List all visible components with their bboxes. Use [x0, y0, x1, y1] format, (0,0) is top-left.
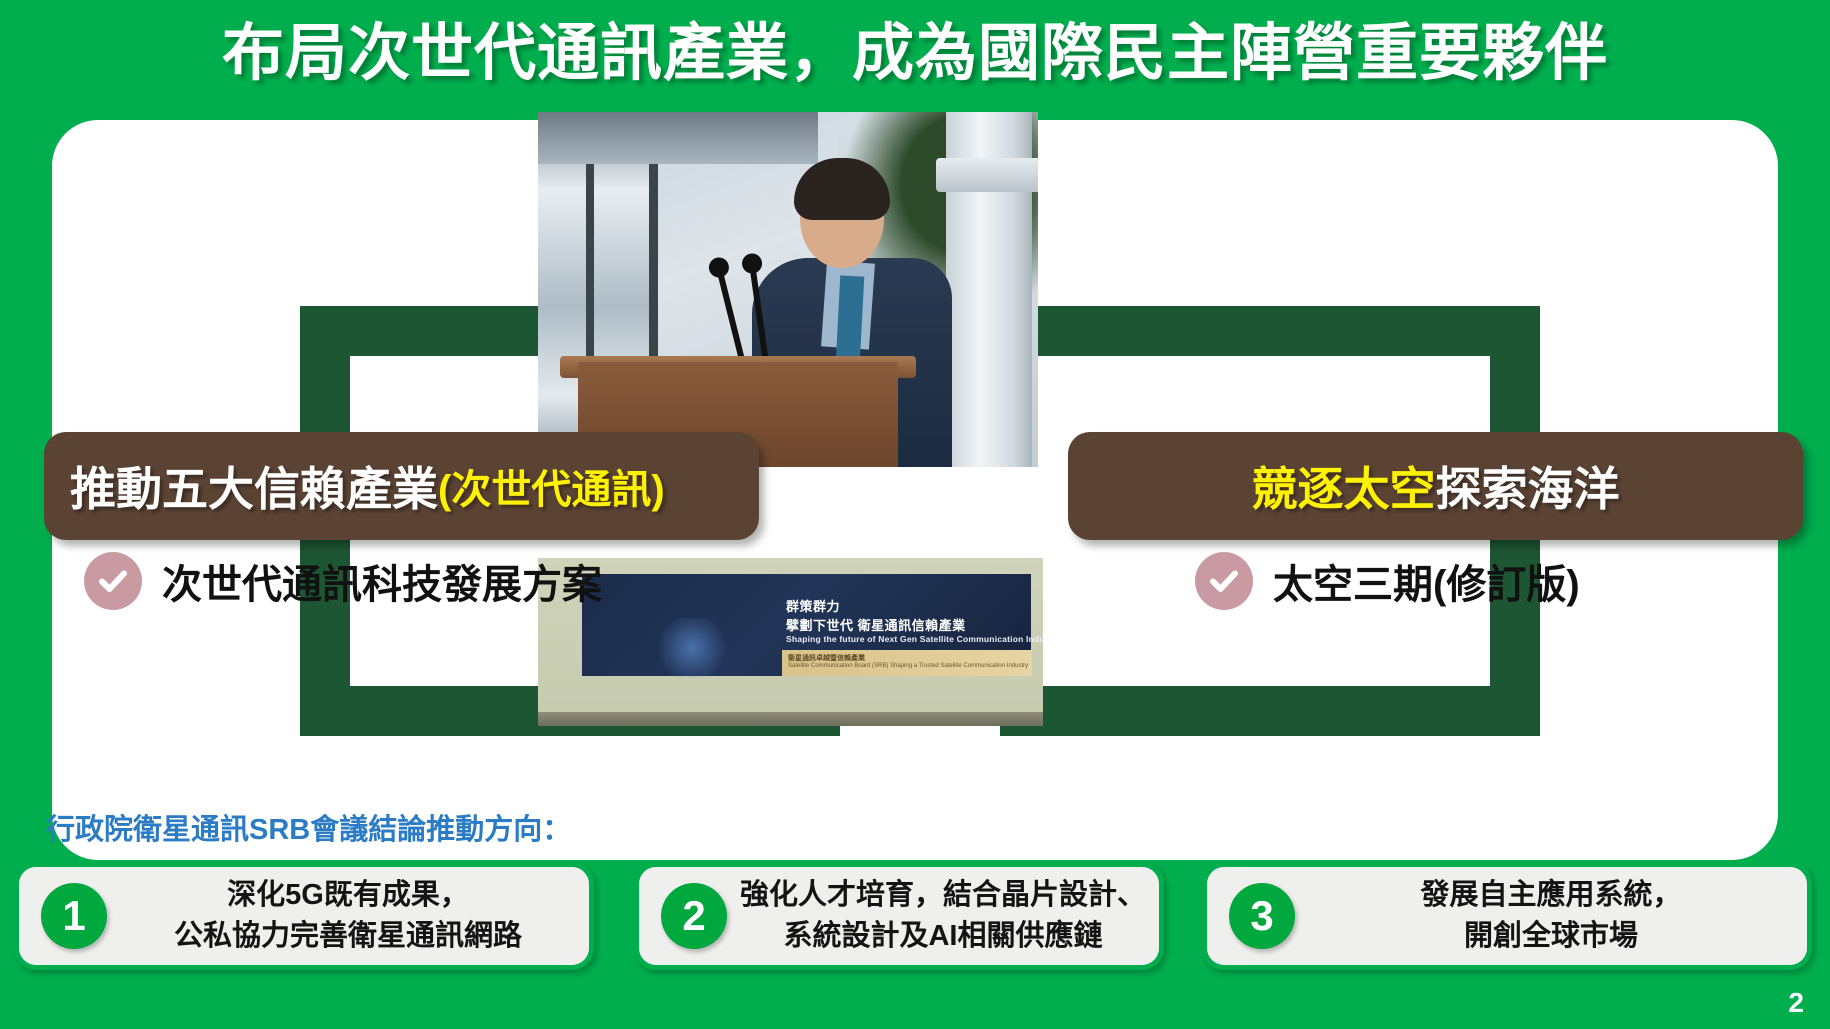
- action-box-text: 強化人才培育，結合晶片設計、 系統設計及AI相關供應鏈: [727, 875, 1159, 957]
- check-icon: [1195, 552, 1253, 610]
- photo-group-band-line2: Satellite Communication Board (SRB) Shap…: [788, 663, 1028, 669]
- photo-speaker-ceiling: [538, 112, 818, 164]
- photo-group-banner-line3: Shaping the future of Next Gen Satellite…: [786, 634, 1043, 644]
- photo-speaker-column: [946, 112, 1032, 467]
- action-box-text: 發展自主應用系統， 開創全球市場: [1295, 875, 1807, 957]
- photo-group-backdrop-glow: [652, 618, 732, 678]
- srb-direction-label: 行政院衛星通訊SRB會議結論推動方向：: [46, 806, 571, 848]
- action-box-3[interactable]: 3 發展自主應用系統， 開創全球市場: [1202, 862, 1812, 970]
- photo-group-backdrop-screen: 群策群力 擘劃下世代 衛星通訊信賴產業 Shaping the future o…: [582, 574, 1031, 676]
- page-number: 2: [1788, 987, 1804, 1019]
- page-title: 布局次世代通訊產業，成為國際民主陣營重要夥伴: [0, 6, 1830, 102]
- right-panel-header-accent: 競逐太空: [1252, 453, 1436, 519]
- action-box-text: 深化5G既有成果， 公私協力完善衛星通訊網路: [107, 875, 589, 957]
- photo-group-satellite-srb: 群策群力 擘劃下世代 衛星通訊信賴產業 Shaping the future o…: [538, 558, 1043, 726]
- slide-root: 布局次世代通訊產業，成為國際民主陣營重要夥伴 群策群力 擘劃下世代 衛星通訊信賴…: [0, 0, 1830, 1029]
- right-panel-header: 競逐太空 探索海洋: [1068, 432, 1803, 540]
- right-panel-header-main: 探索海洋: [1436, 453, 1620, 519]
- check-icon: [84, 552, 142, 610]
- photo-group-band-line1: 衛星通訊卓越暨信賴產業: [788, 653, 865, 663]
- right-panel-bullet-row: 太空三期(修訂版): [1195, 552, 1580, 610]
- left-panel-header-main: 推動五大信賴產業: [70, 453, 438, 519]
- photo-group-banner-line2: 擘劃下世代 衛星通訊信賴產業: [786, 615, 966, 634]
- left-panel-header: 推動五大信賴產業 (次世代通訊): [44, 432, 759, 540]
- left-panel-bullet-row: 次世代通訊科技發展方案: [84, 552, 602, 610]
- photo-speaker-tie: [836, 275, 865, 364]
- photo-speaker-at-podium: [538, 112, 1038, 467]
- photo-group-floor: [538, 712, 1043, 726]
- left-panel-bullet-label: 次世代通訊科技發展方案: [162, 552, 602, 610]
- action-box-number: 2: [661, 883, 727, 949]
- action-box-number: 1: [41, 883, 107, 949]
- photo-group-banner-line1: 群策群力: [786, 596, 840, 615]
- action-box-2[interactable]: 2 強化人才培育，結合晶片設計、 系統設計及AI相關供應鏈: [634, 862, 1164, 970]
- action-box-number: 3: [1229, 883, 1295, 949]
- action-box-1[interactable]: 1 深化5G既有成果， 公私協力完善衛星通訊網路: [14, 862, 594, 970]
- right-panel-bullet-label: 太空三期(修訂版): [1273, 552, 1580, 610]
- left-panel-header-accent: (次世代通訊): [438, 457, 665, 515]
- photo-group-banner-band: 衛星通訊卓越暨信賴產業 Satellite Communication Boar…: [782, 650, 1032, 676]
